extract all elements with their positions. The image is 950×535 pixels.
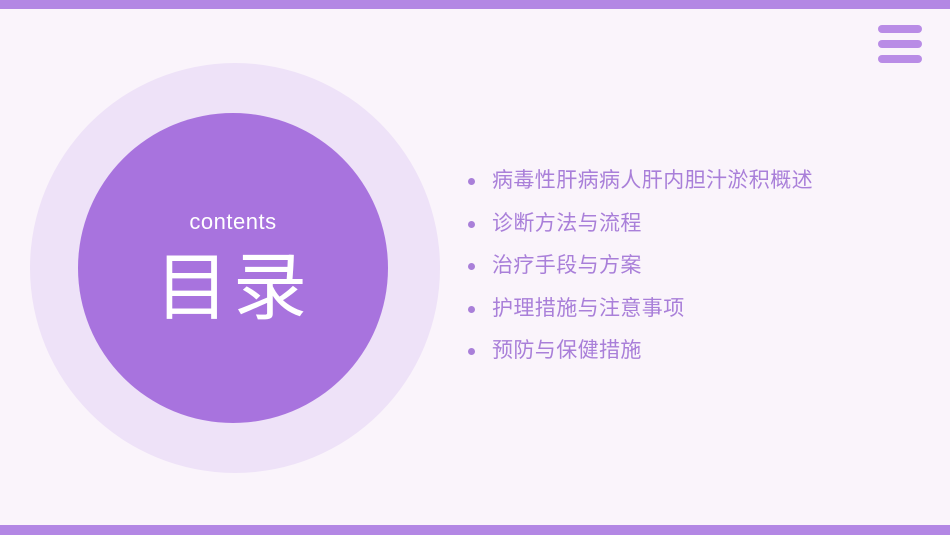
list-item[interactable]: 病毒性肝病病人肝内胆汁淤积概述: [468, 168, 908, 211]
slide-root: contents 目录 病毒性肝病病人肝内胆汁淤积概述 诊断方法与流程 治疗手段…: [0, 0, 950, 535]
hamburger-bar-2: [878, 40, 922, 48]
hamburger-bar-1: [878, 25, 922, 33]
contents-circle-group: contents 目录: [30, 63, 440, 473]
list-item[interactable]: 诊断方法与流程: [468, 211, 908, 254]
contents-label-cn: 目录: [155, 251, 311, 325]
list-item[interactable]: 治疗手段与方案: [468, 253, 908, 296]
table-of-contents: 病毒性肝病病人肝内胆汁淤积概述 诊断方法与流程 治疗手段与方案 护理措施与注意事…: [468, 168, 908, 381]
bullet-dot-icon: [468, 348, 475, 355]
list-item[interactable]: 预防与保健措施: [468, 338, 908, 381]
list-item-label: 诊断方法与流程: [492, 211, 642, 237]
bottom-accent-bar: [0, 525, 950, 535]
list-item[interactable]: 护理措施与注意事项: [468, 296, 908, 339]
hamburger-bar-3: [878, 55, 922, 63]
circle-inner-disc: contents 目录: [78, 113, 388, 423]
list-item-label: 治疗手段与方案: [492, 253, 642, 279]
bullet-dot-icon: [468, 178, 475, 185]
bullet-dot-icon: [468, 306, 475, 313]
top-accent-bar: [0, 0, 950, 9]
bullet-dot-icon: [468, 221, 475, 228]
list-item-label: 护理措施与注意事项: [492, 296, 685, 322]
contents-label-en: contents: [189, 211, 276, 233]
hamburger-menu-icon[interactable]: [878, 25, 922, 63]
list-item-label: 预防与保健措施: [492, 338, 642, 364]
list-item-label: 病毒性肝病病人肝内胆汁淤积概述: [492, 168, 813, 194]
bullet-dot-icon: [468, 263, 475, 270]
